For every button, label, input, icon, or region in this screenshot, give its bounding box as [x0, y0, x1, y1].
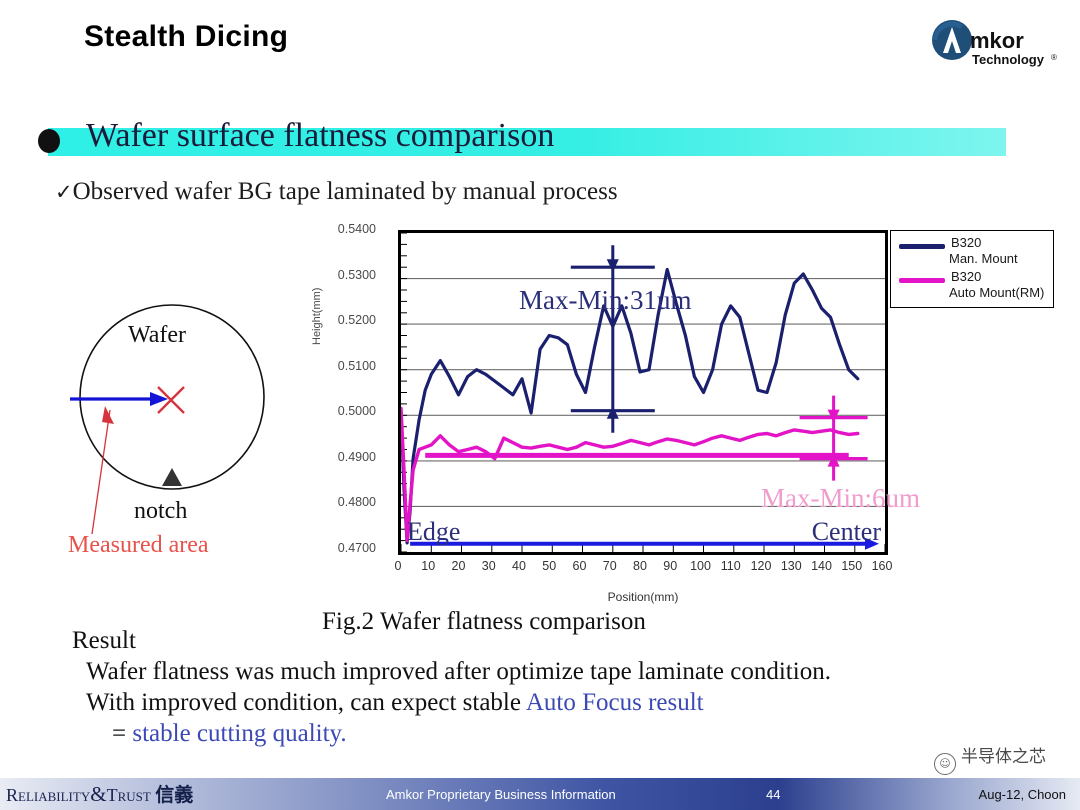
wafer-label: Wafer	[128, 322, 186, 349]
smiley-icon: ☺	[934, 753, 956, 775]
x-tick-label: 100	[688, 559, 714, 573]
result-line-3-accent: stable cutting quality	[132, 720, 340, 747]
y-tick-label: 0.4900	[332, 450, 376, 464]
magenta-double-arrow	[800, 396, 868, 481]
result-line-2: With improved condition, can expect stab…	[72, 689, 1012, 717]
x-tick-label: 110	[718, 559, 744, 573]
plot-area: Max-Min:31um Max-Min:6um Edge Center	[398, 230, 888, 555]
footer-bar: RELIABILITY&TRUST 信義 Amkor Proprietary B…	[0, 778, 1080, 810]
y-tick-label: 0.5400	[332, 222, 376, 236]
result-line-3: = stable cutting quality.	[72, 720, 1012, 748]
result-title: Result	[72, 627, 1012, 655]
x-tick-label: 50	[536, 559, 562, 573]
legend-swatch-navy	[899, 244, 945, 249]
y-axis-ticks: 0.47000.48000.49000.50000.51000.52000.53…	[326, 225, 376, 555]
x-tick-label: 130	[778, 559, 804, 573]
subheading-label: Observed wafer BG tape laminated by manu…	[73, 178, 618, 205]
measured-area-label: Measured area	[68, 532, 209, 559]
reliability-trust-logo: RELIABILITY&TRUST 信義	[6, 780, 193, 807]
result-line-3-period: .	[340, 720, 346, 747]
bullet-icon	[38, 129, 60, 153]
footer-proprietary-notice: Amkor Proprietary Business Information	[386, 787, 616, 802]
measured-area-leader	[92, 410, 110, 534]
result-line-2-plain: With improved condition, can expect stab…	[86, 689, 526, 716]
legend-label-magenta-line1: B320	[951, 269, 1044, 285]
y-tick-label: 0.5100	[332, 359, 376, 373]
notch-label: notch	[134, 498, 187, 525]
footer-logo-amp: &	[90, 782, 106, 806]
y-tick-label: 0.5300	[332, 268, 376, 282]
legend-item-man-mount: B320 Man. Mount	[899, 238, 1047, 272]
legend-label-navy-line2: Man. Mount	[949, 251, 1018, 267]
x-tick-label: 140	[809, 559, 835, 573]
svg-text:mkor: mkor	[970, 28, 1024, 53]
subheading: ✓Observed wafer BG tape laminated by man…	[55, 178, 618, 206]
annotation-magenta-range: Max-Min:6um	[761, 483, 920, 514]
legend-item-auto-mount: B320 Auto Mount(RM)	[899, 272, 1047, 306]
y-tick-label: 0.5200	[332, 313, 376, 327]
flatness-chart: Height(mm) 0.47000.48000.49000.50000.510…	[312, 225, 912, 570]
x-tick-label: 80	[627, 559, 653, 573]
footer-date-author: Aug-12, Choon	[979, 787, 1066, 802]
notch-marker	[162, 468, 182, 486]
x-tick-label: 120	[748, 559, 774, 573]
watermark: ☺半导体之芯	[934, 742, 1046, 775]
x-tick-label: 60	[567, 559, 593, 573]
x-tick-label: 150	[839, 559, 865, 573]
page-title: Stealth Dicing	[84, 20, 288, 54]
series-line-auto-mount	[401, 409, 858, 541]
footer-logo-t: T	[107, 785, 118, 805]
measured-area-arrowhead	[102, 406, 114, 424]
wafer-diagram: Wafer notch Measured area	[62, 282, 312, 572]
footer-logo-r-rest: ELIABILITY	[18, 789, 90, 804]
footer-logo-cjk: 信義	[155, 784, 193, 806]
amkor-technology-logo: mkor Technology ®	[930, 18, 1062, 72]
x-tick-label: 40	[506, 559, 532, 573]
chart-legend: B320 Man. Mount B320 Auto Mount(RM)	[890, 230, 1054, 308]
edge-label: Edge	[407, 517, 460, 547]
y-tick-label: 0.4800	[332, 495, 376, 509]
footer-logo-t-rest: RUST	[118, 789, 151, 804]
wafer-diagram-svg	[62, 282, 312, 572]
x-tick-label: 0	[385, 559, 411, 573]
annotation-navy-range: Max-Min:31um	[519, 285, 692, 316]
y-tick-label: 0.4700	[332, 541, 376, 555]
x-axis-ticks: 0102030405060708090100110120130140150160	[398, 559, 888, 579]
section-heading: Wafer surface flatness comparison	[30, 128, 990, 158]
result-line-3-eq: =	[112, 720, 132, 747]
footer-logo-r: R	[6, 785, 18, 805]
navy-double-arrow	[571, 245, 655, 433]
heading-label: Wafer surface flatness comparison	[86, 117, 554, 155]
legend-label-magenta-line2: Auto Mount(RM)	[949, 285, 1044, 301]
result-line-2-accent: Auto Focus result	[526, 689, 704, 716]
legend-label-navy-line1: B320	[951, 235, 1018, 251]
x-tick-label: 10	[415, 559, 441, 573]
x-tick-label: 20	[446, 559, 472, 573]
result-block: Result Wafer flatness was much improved …	[72, 627, 1012, 748]
watermark-label: 半导体之芯	[961, 747, 1046, 767]
edge-to-center-arrow	[410, 538, 879, 550]
center-label: Center	[812, 517, 881, 547]
x-axis-title: Position(mm)	[398, 590, 888, 604]
footer-page-number: 44	[766, 787, 780, 802]
x-tick-label: 70	[597, 559, 623, 573]
x-tick-label: 90	[657, 559, 683, 573]
svg-text:Technology: Technology	[972, 52, 1045, 67]
legend-swatch-magenta	[899, 278, 945, 283]
x-tick-label: 30	[476, 559, 502, 573]
checkmark-icon: ✓	[55, 180, 73, 204]
y-tick-label: 0.5000	[332, 404, 376, 418]
result-line-1: Wafer flatness was much improved after o…	[72, 658, 1012, 686]
y-axis-title: Height(mm)	[311, 288, 323, 345]
svg-text:®: ®	[1051, 53, 1057, 62]
x-tick-label: 160	[869, 559, 895, 573]
